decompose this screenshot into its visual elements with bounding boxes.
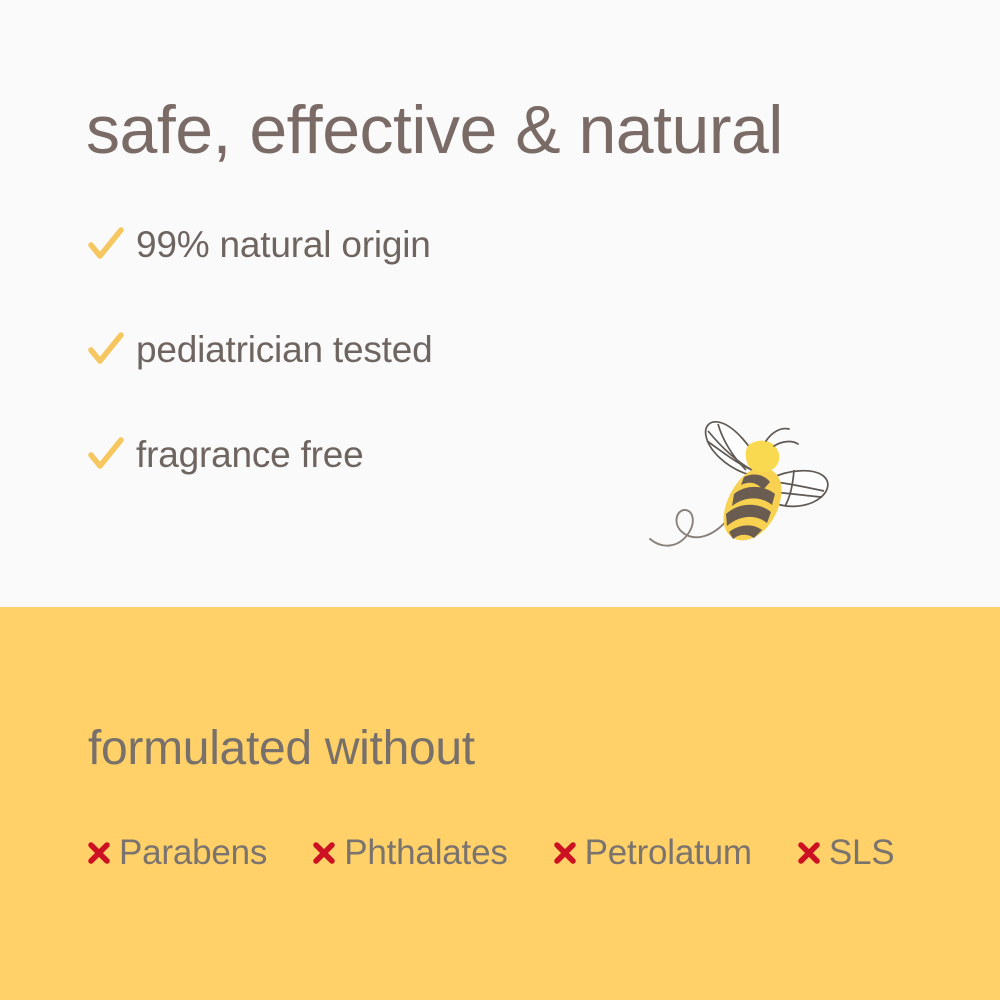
x-icon <box>311 840 337 866</box>
formulated-without-section: formulated without Parabens Phthalates P… <box>0 607 1000 1000</box>
list-item: Phthalates <box>311 835 507 870</box>
list-item: 99% natural origin <box>86 218 646 270</box>
exclusion-list: Parabens Phthalates Petrolatum SLS <box>86 835 894 870</box>
check-icon <box>86 224 126 264</box>
exclusion-label: Petrolatum <box>585 835 752 870</box>
list-item: fragrance free <box>86 428 646 480</box>
x-icon <box>86 840 112 866</box>
section-title: formulated without <box>88 725 475 773</box>
list-item: Petrolatum <box>552 835 752 870</box>
exclusion-label: Parabens <box>119 835 267 870</box>
benefits-section: safe, effective & natural 99% natural or… <box>0 0 1000 607</box>
benefit-label: fragrance free <box>136 436 364 473</box>
check-icon <box>86 434 126 474</box>
benefit-label: pediatrician tested <box>136 331 433 368</box>
check-icon <box>86 329 126 369</box>
exclusion-label: Phthalates <box>344 835 507 870</box>
exclusion-label: SLS <box>829 835 895 870</box>
x-icon <box>552 840 578 866</box>
page-title: safe, effective & natural <box>86 96 783 164</box>
benefit-label: 99% natural origin <box>136 226 431 263</box>
list-item: SLS <box>796 835 895 870</box>
product-benefits-panel: safe, effective & natural 99% natural or… <box>0 0 1000 1000</box>
list-item: Parabens <box>86 835 267 870</box>
bee-body <box>724 468 782 541</box>
bee-illustration <box>648 408 848 573</box>
list-item: pediatrician tested <box>86 323 646 375</box>
x-icon <box>796 840 822 866</box>
benefit-list: 99% natural origin pediatrician tested f… <box>86 218 646 533</box>
